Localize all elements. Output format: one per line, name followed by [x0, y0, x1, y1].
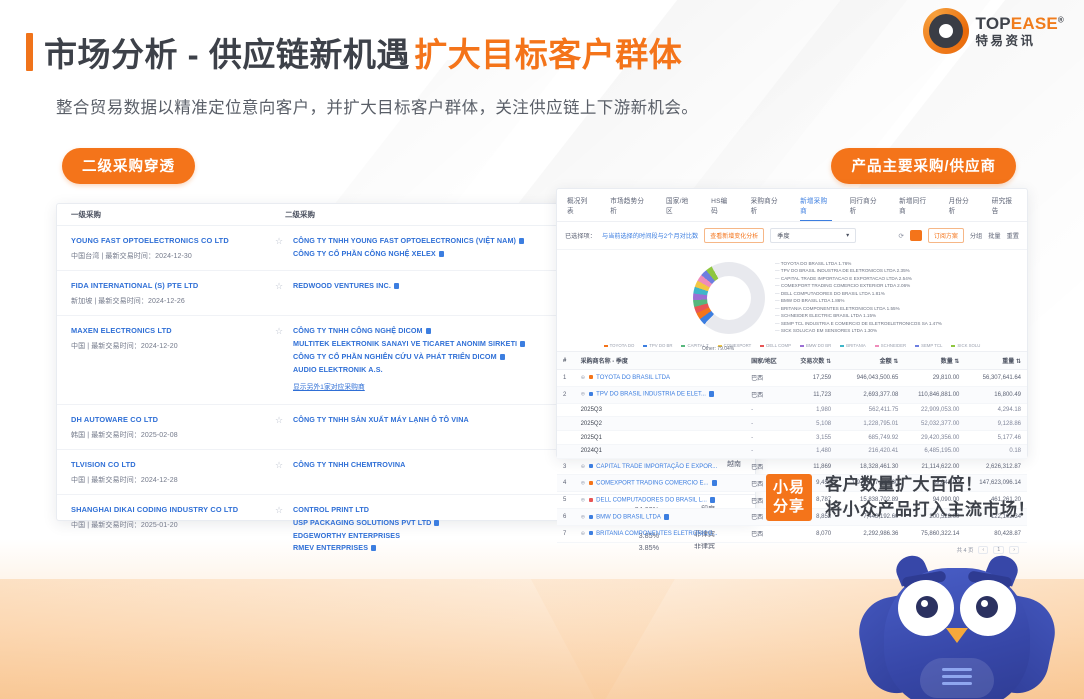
row-index: 1: [557, 370, 575, 387]
row-amount: 685,749.92: [837, 431, 904, 445]
tab-新增同行商[interactable]: 新增同行商: [899, 195, 931, 221]
tab-市场趋势分析[interactable]: 市场趋势分析: [610, 195, 648, 221]
expand-icon[interactable]: ⊕: [581, 392, 586, 398]
donut-ring: [693, 262, 765, 334]
subscribe-button[interactable]: 订阅方案: [928, 228, 964, 243]
tier1-company[interactable]: MAXEN ELECTRONICS LTD: [71, 325, 271, 336]
tier1-company[interactable]: SHANGHAI DIKAI CODING INDUSTRY CO LTD: [71, 504, 271, 515]
owl-mascot-icon: [862, 540, 1052, 699]
row-name[interactable]: 2025Q3: [575, 403, 746, 417]
favorite-star-icon[interactable]: ☆: [275, 326, 283, 394]
row-name[interactable]: ⊕CAPITAL TRADE IMPORTAÇÃO E EXPOR...: [575, 458, 746, 475]
filter-chip-button[interactable]: 查看新增变化分析: [704, 228, 764, 243]
refresh-icon[interactable]: ⟳: [898, 232, 903, 240]
legend-item: BMW DO BRASIL LTDA 1.86%: [775, 297, 942, 304]
expand-icon[interactable]: ⊕: [581, 514, 586, 520]
row-quantity: 29,810.00: [904, 370, 965, 387]
tab-新增采购商[interactable]: 新增采购商: [800, 195, 832, 221]
row-name[interactable]: 2024Q1: [575, 444, 746, 458]
page-subtitle: 整合贸易数据以精准定位意向客户，并扩大目标客户群体，关注供应链上下游新机会。: [56, 94, 1084, 118]
title-accent-bar: [26, 33, 33, 71]
row-count: 3,155: [788, 431, 837, 445]
row-amount: 562,411.75: [837, 403, 904, 417]
row-index: 2: [557, 386, 575, 403]
filter-bar: 已选择项： 与当前选择的时间段与2个月对比数 查看新增变化分析 季度 ▾ ⟳ 订…: [557, 222, 1027, 250]
logo-text-ease: EASE: [1011, 14, 1058, 33]
column-header[interactable]: #: [557, 352, 575, 370]
table-row[interactable]: 2024Q1-1,480216,420.416,485,195.000.18: [557, 444, 1027, 458]
tab-月份分析[interactable]: 月份分析: [949, 195, 974, 221]
legend-strip-item[interactable]: SCHNEIDER: [875, 343, 906, 348]
tier1-company[interactable]: FIDA INTERNATIONAL (S) PTE LTD: [71, 280, 271, 291]
table-row[interactable]: 2025Q2-5,1081,228,795.0152,032,377.009,1…: [557, 417, 1027, 431]
share-tag: 小易 分享: [766, 474, 812, 521]
legend-strip-item[interactable]: BMW DO BR: [800, 343, 831, 348]
row-quantity: 29,420,356.00: [904, 431, 965, 445]
legend-strip-item[interactable]: BRITANIA: [840, 343, 866, 348]
row-amount: 946,043,500.65: [837, 370, 904, 387]
chevron-down-icon: ▾: [846, 232, 849, 239]
row-amount: 1,228,795.01: [837, 417, 904, 431]
verified-icon: [664, 514, 669, 520]
legend-strip-item[interactable]: DELL COMP: [760, 343, 791, 348]
donut-chart: TOYOTA DO BRASIL LTDA 1.76%TPV DO BRASIL…: [557, 250, 1027, 342]
favorite-star-icon[interactable]: ☆: [275, 236, 283, 261]
row-name[interactable]: ⊕BMW DO BRASIL LTDA: [575, 509, 746, 526]
title-accent-text: 扩大目标客户群体: [414, 36, 682, 73]
row-quantity: 52,032,377.00: [904, 417, 965, 431]
verified-icon: [519, 238, 524, 244]
tier1-company[interactable]: TLVISION CO LTD: [71, 459, 271, 470]
favorite-star-icon[interactable]: ☆: [275, 505, 283, 555]
action-reset[interactable]: 重置: [1007, 231, 1019, 240]
favorite-star-icon[interactable]: ☆: [275, 281, 283, 306]
row-amount: 216,420.41: [837, 444, 904, 458]
tab-HS编码[interactable]: HS编码: [711, 195, 732, 221]
tab-研究报告[interactable]: 研究报告: [992, 195, 1017, 221]
table-row[interactable]: 1⊕TOYOTA DO BRASIL LTDA巴西17,259946,043,5…: [557, 370, 1027, 387]
row-country: -: [745, 417, 788, 431]
logo-registered-icon: ®: [1058, 16, 1064, 25]
supplier-analysis-panel: 概况列表市场趋势分析国家/地区HS编码采购商分析新增采购商同行商分析新增同行商月…: [556, 188, 1028, 458]
show-more-link[interactable]: 显示另外1家对应采购商: [293, 384, 365, 391]
export-button[interactable]: [910, 230, 922, 241]
row-count: 1,980: [788, 403, 837, 417]
verified-icon: [394, 283, 399, 289]
filter-label: 已选择项：: [565, 231, 596, 240]
row-name[interactable]: 2025Q1: [575, 431, 746, 445]
tier2-company[interactable]: CONTROL PRINT LTD: [293, 504, 601, 517]
verified-icon: [520, 341, 525, 347]
column-header[interactable]: 重量 ⇅: [965, 352, 1027, 370]
legend-strip-item[interactable]: TOYOTA DO: [604, 343, 635, 348]
logo-text-top: TOP: [976, 14, 1011, 33]
row-name[interactable]: ⊕DELL COMPUTADORES DO BRASIL L...: [575, 492, 746, 509]
share-callout: 小易 分享 客户数量扩大百倍！ 将小众产品打入主流市场！: [766, 473, 1035, 522]
share-text-line1: 客户数量扩大百倍！: [825, 473, 1035, 498]
expand-icon[interactable]: ⊕: [581, 464, 586, 470]
row-country: 巴西: [745, 370, 788, 387]
column-header-tier1: 一级采购: [71, 209, 285, 220]
row-weight: 0.18: [965, 444, 1027, 458]
filter-link[interactable]: 与当前选择的时间段与2个月对比数: [602, 231, 698, 240]
verified-icon: [710, 497, 715, 503]
column-header[interactable]: 数量 ⇅: [904, 352, 965, 370]
row-weight: 56,307,641.64: [965, 370, 1027, 387]
row-amount: 2,693,377.08: [837, 386, 904, 403]
topease-logo-icon: [923, 8, 969, 54]
tier1-company[interactable]: YOUNG FAST OPTOELECTRONICS CO LTD: [71, 235, 271, 246]
legend-item: SICK SOLUCAO EM SENSORES LTDA 1.30%: [775, 327, 942, 334]
company-meta: 韩国 | 最新交易时间：2025-02-08: [71, 430, 271, 440]
column-header[interactable]: 国家/地区: [745, 352, 788, 370]
legend-item: TOYOTA DO BRASIL LTDA 1.76%: [775, 260, 942, 267]
tier2-company[interactable]: USP PACKAGING SOLUTIONS PVT LTD: [293, 517, 601, 530]
row-index: 5: [557, 492, 575, 509]
legend-item: TPV DO BRASIL INDUSTRIA DE ELETRONICOS L…: [775, 267, 942, 274]
tier2-company[interactable]: EDGEWORTHY ENTERPRISES: [293, 530, 601, 543]
row-index: [557, 444, 575, 458]
row-name[interactable]: ⊕TPV DO BRASIL INDUSTRIA DE ELET...: [575, 386, 746, 403]
badge-main-suppliers: 产品主要采购/供应商: [831, 148, 1016, 184]
row-country: -: [745, 403, 788, 417]
company-meta: 中国 | 最新交易时间：2024-12-28: [71, 475, 271, 485]
row-index: 6: [557, 509, 575, 526]
tab-采购商分析[interactable]: 采购商分析: [751, 195, 783, 221]
period-select-value: 季度: [777, 231, 789, 240]
row-name[interactable]: ⊕TOYOTA DO BRASIL LTDA: [575, 370, 746, 387]
column-header[interactable]: 交易次数 ⇅: [788, 352, 837, 370]
company-meta: 中国台湾 | 最新交易时间：2024-12-30: [71, 251, 271, 261]
verified-icon: [434, 520, 439, 526]
row-count: 11,723: [788, 386, 837, 403]
legend-item: BRITANIA COMPONENTES ELETRONICOS LTDA 1.…: [775, 305, 942, 312]
logo-text-cn: 特易资讯: [976, 34, 1064, 48]
verified-icon: [712, 480, 717, 486]
row-weight: 9,128.86: [965, 417, 1027, 431]
table-row[interactable]: 2025Q1-3,155685,749.9229,420,356.005,177…: [557, 431, 1027, 445]
table-header: #采购商名称 - 季度国家/地区交易次数 ⇅金额 ⇅数量 ⇅重量 ⇅: [557, 352, 1027, 370]
legend-item: DELL COMPUTADORES DO BRASIL LTDA 1.81%: [775, 290, 942, 297]
company-meta: 中国 | 最新交易时间：2024-12-20: [71, 341, 271, 351]
column-header[interactable]: 采购商名称 - 季度: [575, 352, 746, 370]
row-quantity: 6,485,195.00: [904, 444, 965, 458]
row-index: 3: [557, 458, 575, 475]
verified-icon: [426, 328, 431, 334]
verified-icon: [709, 391, 714, 397]
row-count: 8,070: [788, 525, 837, 542]
tier1-company[interactable]: DH AUTOWARE CO LTD: [71, 414, 271, 425]
expand-icon[interactable]: ⊕: [581, 375, 586, 381]
tab-国家/地区[interactable]: 国家/地区: [666, 195, 693, 221]
page-title: 市场分析 - 供应链新机遇 扩大目标客户群体: [0, 0, 1084, 76]
company-meta: 中国 | 最新交易时间：2025-01-20: [71, 520, 271, 530]
row-count: 1,480: [788, 444, 837, 458]
chart-other-label: Other: 79.04%: [702, 346, 734, 352]
legend-strip-item[interactable]: SICK SOLU: [951, 343, 980, 348]
share-text-line2: 将小众产品打入主流市场！: [825, 498, 1035, 523]
legend-item: COMEXPORT TRADING COMERCIO EXTERIOR LTDA…: [775, 282, 942, 289]
row-weight: 4,294.18: [965, 403, 1027, 417]
row-name[interactable]: 2025Q2: [575, 417, 746, 431]
row-index: [557, 403, 575, 417]
legend-item: SEMP TCL INDUSTRIA E COMERCIO DE ELETROE…: [775, 320, 942, 327]
row-weight: 5,177.46: [965, 431, 1027, 445]
action-batch[interactable]: 批量: [988, 231, 1000, 240]
row-country: -: [745, 431, 788, 445]
row-country: -: [745, 444, 788, 458]
table-row[interactable]: 2⊕TPV DO BRASIL INDUSTRIA DE ELET...巴西11…: [557, 386, 1027, 403]
badge-tier2-procurement: 二级采购穿透: [62, 148, 195, 184]
tab-同行商分析[interactable]: 同行商分析: [850, 195, 882, 221]
row-index: 7: [557, 525, 575, 542]
chart-legend: TOYOTA DO BRASIL LTDA 1.76%TPV DO BRASIL…: [775, 260, 942, 334]
row-count: 17,259: [788, 370, 837, 387]
legend-strip-item[interactable]: SEMP TCL: [915, 343, 942, 348]
row-weight: 16,800.49: [965, 386, 1027, 403]
row-count: 5,108: [788, 417, 837, 431]
panel-tabs: 概况列表市场趋势分析国家/地区HS编码采购商分析新增采购商同行商分析新增同行商月…: [557, 189, 1027, 222]
company-meta: 新加坡 | 最新交易时间：2024-12-26: [71, 296, 271, 306]
row-name[interactable]: ⊕BRITANIA COMPONENTES ELETRONICO...: [575, 525, 746, 542]
row-index: 4: [557, 475, 575, 492]
row-country: 巴西: [745, 386, 788, 403]
row-index: [557, 431, 575, 445]
legend-strip-item[interactable]: TPV DO BR: [643, 343, 672, 348]
tier2-company[interactable]: RMEV ENTERPRISES: [293, 542, 601, 555]
action-group[interactable]: 分组: [970, 231, 982, 240]
row-name[interactable]: ⊕COMEXPORT TRADING COMERCIO E...: [575, 475, 746, 492]
chart-legend-strip: TOYOTA DOTPV DO BRCAPITAL TCOMEXPORTDELL…: [557, 342, 1027, 351]
verified-icon: [371, 545, 376, 551]
legend-item: SCHNEIDER ELECTRIC BRASIL LTDA 1.15%: [775, 312, 942, 319]
favorite-star-icon[interactable]: ☆: [275, 415, 283, 440]
expand-icon[interactable]: ⊕: [581, 497, 586, 503]
favorite-star-icon[interactable]: ☆: [275, 460, 283, 485]
row-quantity: 22,909,053.00: [904, 403, 965, 417]
legend-item: CAPITAL TRADE IMPORTACAO E EXPORTACAO LT…: [775, 275, 942, 282]
column-header[interactable]: 金额 ⇅: [837, 352, 904, 370]
row-country: 巴西: [745, 525, 788, 542]
period-select[interactable]: 季度 ▾: [770, 228, 856, 243]
brand-logo: TOPEASE® 特易资讯: [923, 8, 1064, 54]
share-tag-line1: 小易: [773, 479, 805, 497]
share-tag-line2: 分享: [773, 498, 805, 516]
verified-icon: [439, 251, 444, 257]
expand-icon[interactable]: ⊕: [581, 531, 586, 537]
table-row[interactable]: 2025Q3-1,980562,411.7522,909,053.004,294…: [557, 403, 1027, 417]
expand-icon[interactable]: ⊕: [581, 481, 586, 487]
row-quantity: 110,846,881.00: [904, 386, 965, 403]
tab-概况列表[interactable]: 概况列表: [567, 195, 592, 221]
row-index: [557, 417, 575, 431]
title-main-text: 市场分析 - 供应链新机遇: [44, 36, 410, 73]
verified-icon: [500, 354, 505, 360]
